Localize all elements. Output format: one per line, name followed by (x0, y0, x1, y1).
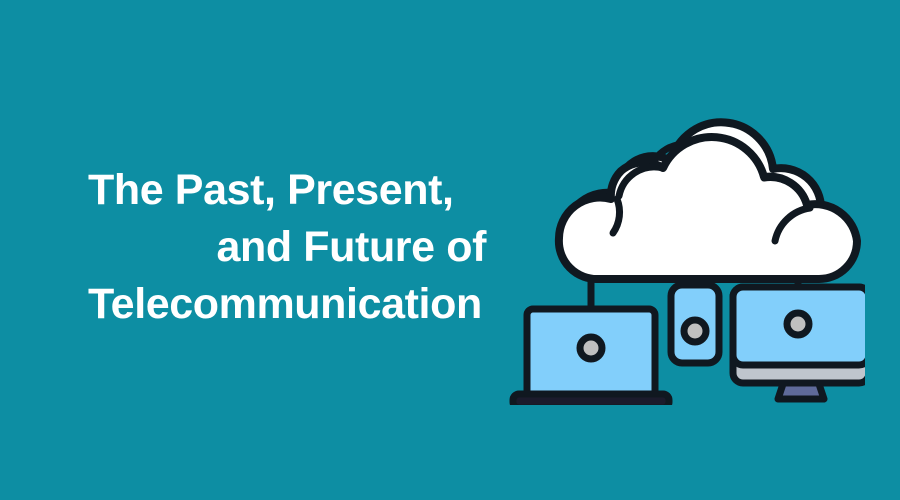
cloud-icon (559, 122, 857, 279)
laptop-base (513, 394, 669, 405)
laptop-icon (513, 309, 669, 405)
page-title: The Past, Present, and Future of Telecom… (88, 162, 528, 333)
headline-line-2: and Future of (88, 219, 528, 276)
smartphone-icon (671, 285, 719, 363)
monitor-connector-dot (787, 313, 809, 335)
promo-banner: The Past, Present, and Future of Telecom… (0, 0, 900, 500)
headline-line-1: The Past, Present, (88, 162, 528, 219)
headline-line-3: Telecommunication (88, 276, 528, 333)
desktop-monitor-icon (733, 287, 865, 399)
cloud-network-illustration (505, 95, 865, 405)
phone-connector-dot (684, 320, 706, 342)
laptop-connector-dot (580, 337, 602, 359)
